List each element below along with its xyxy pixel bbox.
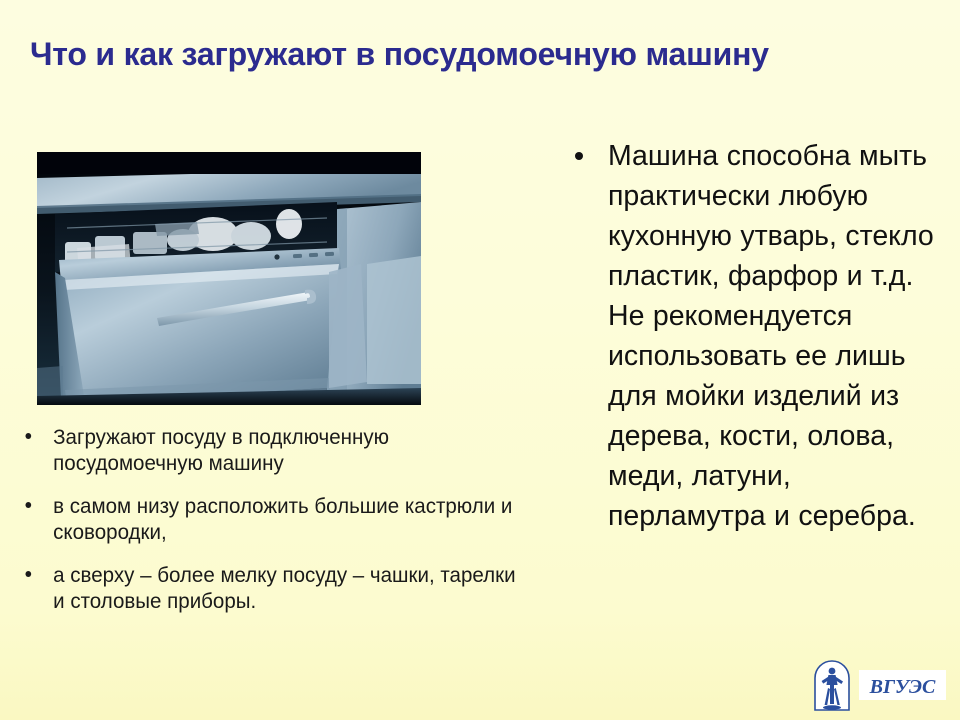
list-item: в самом низу расположить большие кастрюл… bbox=[14, 493, 520, 545]
bullet-icon bbox=[25, 433, 31, 439]
dishwasher-illustration bbox=[37, 152, 421, 405]
statue-emblem-svg bbox=[812, 658, 852, 712]
dishwasher-photo-image bbox=[37, 152, 421, 405]
logo-wordmark-text: ВГУЭС bbox=[869, 676, 936, 698]
list-item: Загружают посуду в подключенную посудомо… bbox=[14, 424, 520, 476]
list-item-label: а сверху – более мелку посуду – чашки, т… bbox=[53, 563, 515, 613]
bullet-icon bbox=[575, 152, 583, 160]
slide-canvas: Что и как загружают в посудомоечную маши… bbox=[0, 0, 960, 720]
statue-emblem-icon bbox=[812, 658, 852, 712]
bullet-icon bbox=[25, 502, 31, 508]
list-item: а сверху – более мелку посуду – чашки, т… bbox=[14, 562, 520, 614]
right-bullet-list: Машина способна мыть практически любую к… bbox=[566, 136, 956, 536]
dishwasher-photo bbox=[37, 152, 421, 405]
list-item-label: в самом низу расположить большие кастрюл… bbox=[53, 494, 512, 544]
logo-wordmark: ВГУЭС bbox=[859, 670, 946, 700]
bullet-icon bbox=[25, 571, 31, 577]
list-item: Машина способна мыть практически любую к… bbox=[566, 136, 956, 536]
list-item-label: Загружают посуду в подключенную посудомо… bbox=[53, 425, 389, 475]
left-bullet-list: Загружают посуду в подключенную посудомо… bbox=[14, 424, 544, 614]
list-item-label: Машина способна мыть практически любую к… bbox=[608, 140, 934, 532]
logo-wordmark-svg: ВГУЭС bbox=[859, 670, 946, 700]
page-title: Что и как загружают в посудомоечную маши… bbox=[30, 34, 917, 74]
vgues-logo: ВГУЭС bbox=[812, 656, 946, 714]
